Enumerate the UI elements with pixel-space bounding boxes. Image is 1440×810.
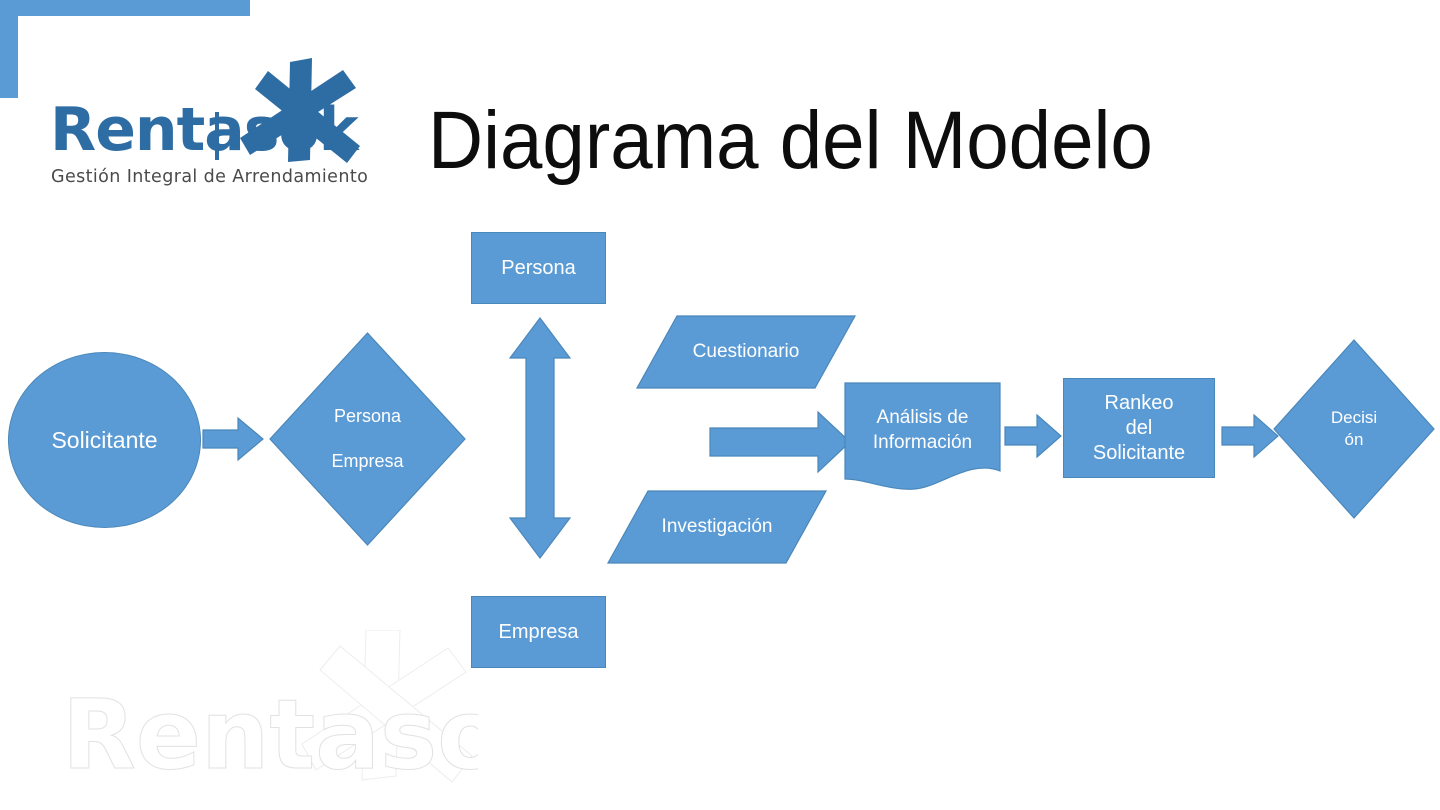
logo-s-stroke (215, 112, 219, 160)
node-decision[interactable]: Decisi ón (1274, 340, 1434, 518)
slide-canvas: Rentasok Gestión Integral de Arrendamien… (0, 0, 1440, 810)
edge-solicitante-to-tipo (203, 415, 265, 463)
logo-wordmark: Rentasok (50, 95, 361, 165)
edge-analisis-to-rankeo (1005, 412, 1063, 460)
node-solicitante-label: Solicitante (51, 426, 157, 455)
node-cuestionario[interactable]: Cuestionario (637, 316, 855, 388)
rentasok-logo: Rentasok Gestión Integral de Arrendamien… (44, 42, 384, 192)
edge-rankeo-to-decision (1222, 412, 1280, 460)
edge-junction-vertical-double-arrow (508, 318, 572, 558)
node-investigacion[interactable]: Investigación (608, 491, 826, 563)
edge-junction-to-analisis (710, 410, 850, 474)
node-persona[interactable]: Persona (471, 232, 606, 304)
page-title: Diagrama del Modelo (428, 96, 1153, 186)
rentasok-watermark: Rentasok (48, 630, 478, 810)
node-empresa-label: Empresa (498, 620, 578, 645)
node-persona-label: Persona (501, 256, 576, 281)
edge-spine-left (0, 0, 250, 16)
node-rankeo-label-line2: del (1093, 416, 1185, 441)
node-solicitante[interactable]: Solicitante (8, 352, 201, 528)
watermark-text: Rentasok (62, 679, 478, 791)
logo-tagline: Gestión Integral de Arrendamiento (51, 167, 368, 187)
node-empresa[interactable]: Empresa (471, 596, 606, 668)
watermark-star-icon (302, 630, 472, 782)
edge-junction-bar (0, 16, 18, 98)
node-rankeo-label-line1: Rankeo (1093, 391, 1185, 416)
node-tipo-persona-empresa[interactable]: Persona Empresa (270, 333, 465, 545)
node-rankeo-label-line3: Solicitante (1093, 441, 1185, 466)
node-rankeo-solicitante[interactable]: Rankeo del Solicitante (1063, 378, 1215, 478)
node-analisis-informacion[interactable]: Análisis de Información (845, 383, 1000, 493)
